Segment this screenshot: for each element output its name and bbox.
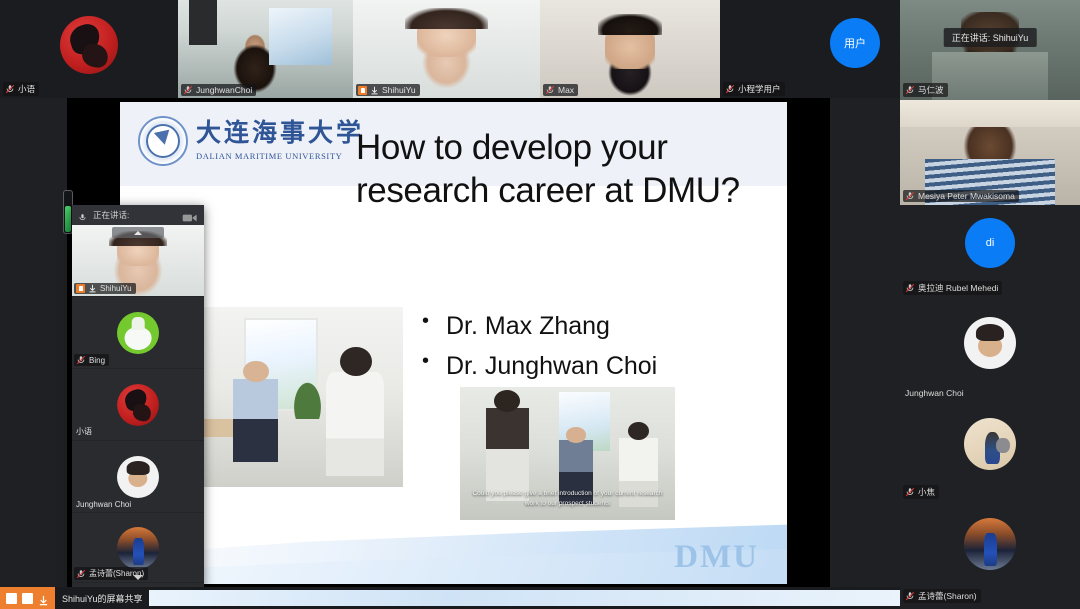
participant-name-chip: Junghwan Choi [903,387,968,399]
participant-name-chip: ShihuiYu [74,283,136,294]
participant-name-chip: Bing [74,354,109,366]
participant-name: 孟诗蕾(Sharon) [918,590,977,602]
taskbar-preview-strip [149,590,900,606]
right-participant-sidebar: 正在讲话: ShihuiYu 马仁波 Mesiya Peter Mwakisom… [900,0,1080,609]
participant-name: ShihuiYu [100,284,132,293]
floating-panel-header: 正在讲话: [72,205,204,225]
photo-person [233,379,278,462]
floating-participant-panel[interactable]: 正在讲话: ShihuiYu Bing [72,205,204,588]
taskbar-icon-group[interactable] [0,587,55,609]
participant-tile-xiaoyu[interactable]: 小语 [0,0,178,98]
presentation-slide: 大连海事大学 DALIAN MARITIME UNIVERSITY How to… [120,102,787,584]
mic-muted-icon [905,191,915,201]
floating-item-junghwanchoi[interactable]: Junghwan Choi [72,441,204,513]
camera-icon [182,210,198,220]
participant-tile-xiaochengyonghu[interactable]: 小程学用户 [720,0,810,98]
floating-item-shihuiyu[interactable]: ShihuiYu [72,225,204,297]
bullet-item: Dr. Junghwan Choi [420,347,657,387]
participant-name: Junghwan Choi [76,500,131,509]
photo-person [486,408,529,501]
participant-tile-max[interactable]: Max [540,0,720,98]
participant-name: 奥拉迪 Rubel Mehedi [918,282,998,294]
mic-muted-icon [5,84,15,94]
floating-item-bing[interactable]: Bing [72,297,204,369]
avatar [964,317,1016,369]
participant-name-chip: ShihuiYu [356,84,420,96]
avatar [964,418,1016,470]
slide-title: How to develop your research career at D… [356,126,776,213]
avatar [117,456,159,498]
avatar-logo [117,384,159,426]
participant-name-chip: 小语 [74,425,96,438]
university-seal-icon [138,116,188,166]
avatar [964,518,1016,570]
slide-embedded-video[interactable]: Could you please give a brief introducti… [460,387,675,520]
mic-muted-icon [725,84,735,94]
mic-muted-icon [76,355,86,365]
mic-muted-icon [183,85,193,95]
raise-hand-icon [76,284,85,293]
mic-icon [78,210,87,221]
participant-name: 马仁波 [918,84,944,96]
participant-tile-shihuiyu[interactable]: ShihuiYu [353,0,540,98]
avatar-initials: di [986,237,995,249]
floating-item-xiaoyu[interactable]: 小语 [72,369,204,441]
participant-name-chip: Mesiya Peter Mwakisoma [903,190,1019,202]
download-arrow-icon [88,284,97,293]
participant-name: 小语 [76,426,92,437]
participant-name-chip: 小语 [3,82,39,96]
mic-muted-icon [905,591,915,601]
collapse-button[interactable] [112,227,164,238]
participant-name-chip: 小焦 [903,485,939,499]
participant-name: JunghwanChoi [196,85,252,95]
university-name-cn: 大连海事大学 [196,121,364,146]
expand-chevron-icon[interactable] [133,575,143,580]
mic-muted-icon [545,85,555,95]
mic-muted-icon [905,487,915,497]
participant-name: 小焦 [918,486,935,498]
raise-hand-icon [358,86,367,95]
participant-tile-junghwanchoi[interactable]: JunghwanChoi [178,0,353,98]
participant-name: Mesiya Peter Mwakisoma [918,191,1015,201]
photo-plant [292,379,324,419]
participant-name: Max [558,85,574,95]
participant-tile-yonghu[interactable]: 用户 [810,0,900,98]
participant-name: Junghwan Choi [905,388,964,398]
screen-share-taskbar: ShihuiYu的屏幕共享 [0,587,900,609]
download-arrow-icon [370,86,379,95]
participant-name-chip: 奥拉迪 Rubel Mehedi [903,281,1002,295]
sidebar-tile-marenbo[interactable]: 正在讲话: ShihuiYu 马仁波 [900,0,1080,100]
participant-name-chip: Max [543,84,578,96]
participant-name: Bing [89,356,105,365]
participant-name: 小语 [18,83,35,95]
sidebar-tile-xiaojiao[interactable]: 小焦 [900,407,1080,508]
video-caption: Could you please give a brief introducti… [466,489,669,508]
university-name-en: DALIAN MARITIME UNIVERSITY [196,151,364,161]
sidebar-tile-rubelmehedi[interactable]: di 奥拉迪 Rubel Mehedi [900,205,1080,305]
speaking-banner: 正在讲话: ShihuiYu [944,28,1037,47]
top-participant-strip: 小语 JunghwanChoi ShihuiYu [0,0,900,98]
monitor-icon[interactable] [22,593,33,604]
participant-name-chip: 小程学用户 [723,82,785,96]
slide-bullet-list: Dr. Max Zhang Dr. Junghwan Choi [420,307,657,386]
conference-window: 小语 JunghwanChoi ShihuiYu [0,0,1080,609]
participant-name-chip: JunghwanChoi [181,84,256,96]
participant-name-chip: 孟诗蕾(Sharon) [903,589,981,603]
sidebar-tile-mesiya[interactable]: Mesiya Peter Mwakisoma [900,100,1080,205]
university-logo-block: 大连海事大学 DALIAN MARITIME UNIVERSITY [138,116,364,166]
avatar [117,384,159,426]
audio-level-fill [65,206,71,232]
avatar-initials: 用户 [844,35,866,51]
mic-muted-icon [905,85,915,95]
avatar [117,527,159,569]
photo-person [326,372,384,476]
floating-item-sharon[interactable]: 孟诗蕾(Sharon) [72,513,204,583]
participant-name-chip: 马仁波 [903,83,948,97]
avatar: di [965,218,1015,268]
slide-watermark: DMU [674,539,759,576]
share-status-label: ShihuiYu的屏幕共享 [55,592,143,605]
sidebar-tile-junghwanchoi[interactable]: Junghwan Choi [900,305,1080,407]
bullet-item: Dr. Max Zhang [420,307,657,347]
participant-name: ShihuiYu [382,85,416,95]
mic-muted-icon [905,283,915,293]
avatar [60,16,118,74]
speaking-label: 正在讲话: [93,209,129,221]
participant-name-chip: Junghwan Choi [74,499,135,510]
avatar: 用户 [830,18,880,68]
person-icon[interactable] [6,593,17,604]
mic-muted-icon [76,569,86,579]
participant-name: 小程学用户 [738,83,781,95]
download-arrow-icon[interactable] [38,593,49,604]
sidebar-tile-sharon[interactable]: 孟诗蕾(Sharon) [900,508,1080,609]
avatar [117,312,159,354]
